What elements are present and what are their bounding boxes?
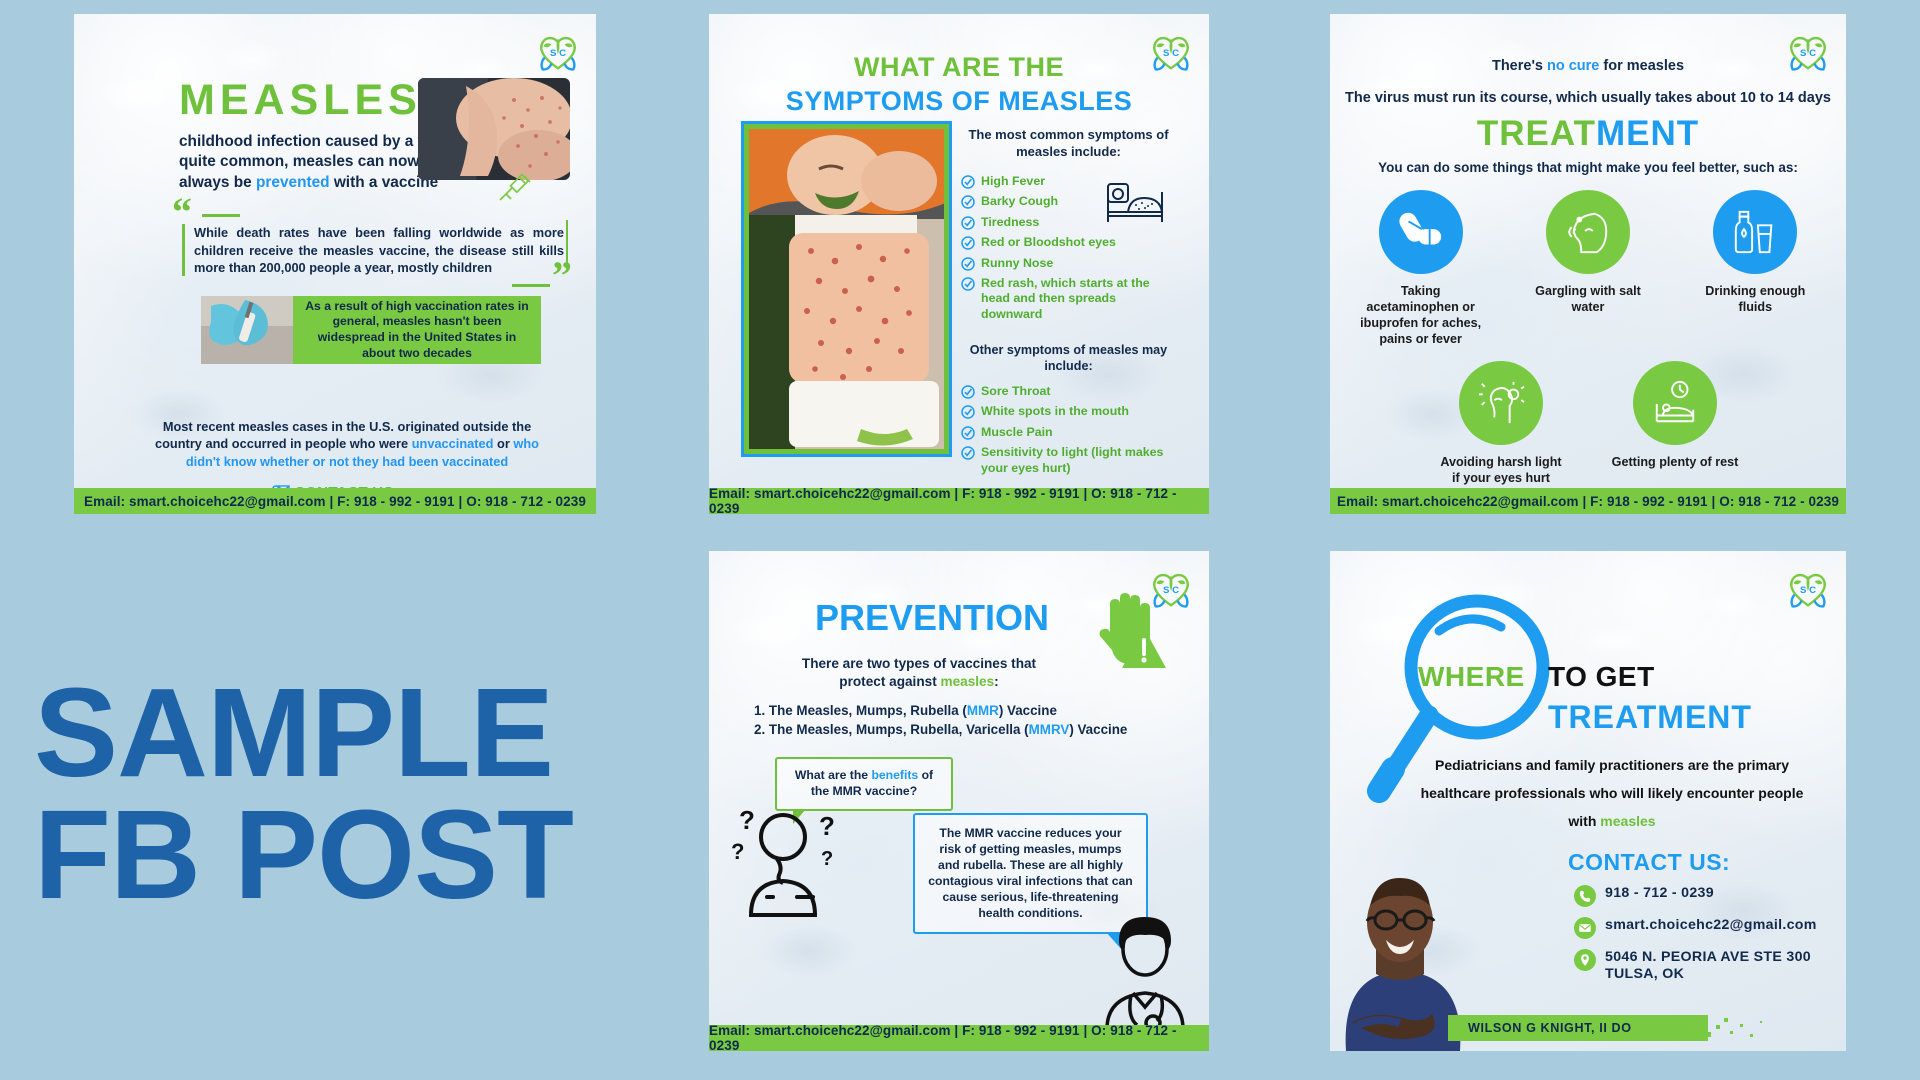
- location-pin-icon: [1574, 949, 1596, 971]
- symptom-label: Muscle Pain: [981, 425, 1053, 440]
- phone-number: 918 - 712 - 0239: [1605, 885, 1714, 902]
- card3-line1-highlight: no cure: [1547, 58, 1599, 74]
- check-circle-icon: [961, 195, 975, 209]
- quote-rule-bottom: [512, 284, 550, 287]
- card4-sub-highlight: measles: [941, 674, 995, 689]
- svg-text:S C: S C: [550, 48, 566, 59]
- card2-heading-line2: SYMPTOMS OF MEASLES: [709, 86, 1209, 117]
- vaccine-syringe-photo: [201, 296, 293, 364]
- gargling-head-icon: [1564, 208, 1612, 256]
- symptom-label: High Fever: [981, 174, 1045, 189]
- card1-bottom-mid: or: [493, 436, 513, 451]
- treatment-label: Gargling with salt water: [1527, 284, 1648, 316]
- card2-subheading: Other symptoms of measles may include:: [961, 342, 1176, 374]
- list-item: White spots in the mouth: [961, 404, 1176, 419]
- vaccine-list: 1. The Measles, Mumps, Rubella (MMR) Vac…: [754, 703, 1174, 741]
- card4-sub-part1: There are two types of vaccines that pro…: [802, 656, 1036, 689]
- head-with-light-icon: [1477, 379, 1525, 427]
- check-circle-icon: [961, 405, 975, 419]
- pixel-decoration: [1652, 1015, 1772, 1041]
- card-measles-intro[interactable]: S C MEASLESis a childhood infection caus…: [74, 14, 596, 514]
- treatment-icon-circle: [1633, 361, 1717, 445]
- card3-line1-part1: There's: [1492, 58, 1547, 74]
- card3-line2: The virus must run its course, which usu…: [1330, 90, 1846, 106]
- treatment-item: Avoiding harsh light if your eyes hurt: [1437, 361, 1565, 487]
- sample-fb-post-label: SAMPLE FB POST: [34, 672, 734, 916]
- measles-rash-photo: [418, 78, 570, 180]
- symptoms-common-list: High Fever Barky Cough Tiredness Red or …: [961, 174, 1176, 327]
- contact-footer-text: Email: smart.choicehc22@gmail.com | F: 9…: [84, 494, 586, 509]
- treatment-icon-circle: [1546, 190, 1630, 274]
- card-treatment[interactable]: S C There's no cure for measles The viru…: [1330, 14, 1846, 514]
- vaccine-pre: The Measles, Mumps, Rubella, Varicella (: [769, 722, 1029, 737]
- quote-close-mark: ”: [552, 264, 572, 288]
- list-item: Sore Throat: [961, 384, 1176, 399]
- check-circle-icon: [961, 175, 975, 189]
- check-circle-icon: [961, 446, 975, 460]
- card1-callout-text: As a result of high vaccination rates in…: [293, 299, 541, 361]
- email-address: smart.choicehc22@gmail.com: [1605, 917, 1817, 934]
- treatment-icon-circle: [1713, 190, 1797, 274]
- treatment-item: Getting plenty of rest: [1611, 361, 1739, 487]
- doctor-with-stethoscope-icon: [1091, 911, 1201, 1031]
- treatment-label: Avoiding harsh light if your eyes hurt: [1437, 455, 1565, 487]
- card-prevention[interactable]: S C PREVENTION There are two types of va…: [709, 551, 1209, 1051]
- treatment-label: Drinking enough fluids: [1695, 284, 1816, 316]
- card1-lead-highlight: prevented: [256, 174, 330, 191]
- card3-line1: There's no cure for measles: [1330, 58, 1846, 74]
- svg-text:?: ?: [731, 839, 744, 864]
- list-item: Muscle Pain: [961, 425, 1176, 440]
- symptom-label: Red rash, which starts at the head and t…: [981, 276, 1176, 322]
- treatment-item: Taking acetaminophen or ibuprofen for ac…: [1360, 190, 1481, 347]
- check-circle-icon: [961, 216, 975, 230]
- card1-quote-text: While death rates have been falling worl…: [194, 224, 564, 277]
- stop-hand-warning-icon: [1092, 588, 1168, 674]
- contact-footer-bar: Email: smart.choicehc22@gmail.com | F: 9…: [709, 488, 1209, 514]
- check-circle-icon: [961, 385, 975, 399]
- card3-title: TREATMENT: [1330, 114, 1846, 154]
- card-where-to-get-treatment[interactable]: S C WHERE TO GET TREATMENT Pediatricians…: [1330, 551, 1846, 1051]
- card2-heading-line1: WHAT ARE THE: [709, 52, 1209, 83]
- treatment-icon-circle: [1459, 361, 1543, 445]
- treatment-item: Drinking enough fluids: [1695, 190, 1816, 347]
- treatment-row-2: Avoiding harsh light if your eyes hurt: [1360, 361, 1816, 487]
- card5-paragraph: Pediatricians and family practitioners a…: [1414, 751, 1810, 835]
- card4-title: PREVENTION: [815, 597, 1049, 639]
- syringe-icon: [494, 172, 534, 206]
- vaccine-post: ) Vaccine: [1069, 722, 1127, 737]
- smart-choice-healthcare-logo: S C: [1784, 565, 1832, 613]
- sample-label-line1: SAMPLE: [34, 672, 734, 794]
- child-measles-photo: [744, 124, 949, 454]
- vaccine-post: ) Vaccine: [999, 703, 1057, 718]
- card1-green-callout: As a result of high vaccination rates in…: [201, 296, 541, 364]
- quote-bar-left: [182, 224, 185, 276]
- check-circle-icon: [961, 426, 975, 440]
- card2-intro: The most common symptoms of measles incl…: [961, 127, 1176, 161]
- quote-open-mark: “: [172, 200, 192, 224]
- card3-title-blue: MENT: [1596, 114, 1699, 153]
- thinking-person-icon: ? ? ? ?: [725, 801, 845, 921]
- poster-collage: SAMPLE FB POST S C MEASLESis a childhood…: [0, 0, 1920, 1080]
- card5-title-toget: TO GET: [1548, 661, 1655, 693]
- symptom-label: Runny Nose: [981, 256, 1053, 271]
- vaccine-num: 2.: [754, 722, 765, 737]
- water-bottle-glass-icon: [1731, 208, 1779, 256]
- treatment-label: Getting plenty of rest: [1611, 455, 1739, 471]
- card4-sub-part2: :: [994, 674, 999, 689]
- contact-footer-bar: Email: smart.choicehc22@gmail.com | F: 9…: [74, 488, 596, 514]
- sample-label-line2: FB POST: [34, 794, 734, 916]
- question-highlight: benefits: [871, 768, 918, 782]
- contact-footer-text: Email: smart.choicehc22@gmail.com | F: 9…: [709, 1023, 1209, 1051]
- card5-contact-rows: 918 - 712 - 0239 smart.choicehc22@gmail.…: [1574, 885, 1844, 993]
- svg-text:?: ?: [819, 811, 835, 841]
- svg-text:S C: S C: [1800, 585, 1816, 596]
- card3-line3: You can do some things that might make y…: [1330, 160, 1846, 175]
- symptoms-other-list: Sore Throat White spots in the mouth Mus…: [961, 384, 1176, 481]
- card5-contact-heading: CONTACT US:: [1568, 849, 1730, 876]
- symptom-label: Red or Bloodshot eyes: [981, 235, 1116, 250]
- card5-para-highlight: measles: [1600, 813, 1655, 829]
- treatment-item: Gargling with salt water: [1527, 190, 1648, 347]
- svg-text:?: ?: [821, 848, 833, 870]
- doctor-name: WILSON G KNIGHT, II DO: [1468, 1021, 1632, 1035]
- list-item: Sensitivity to light (light makes your e…: [961, 445, 1176, 476]
- vaccine-abbr: MMR: [967, 703, 999, 718]
- treatment-icon-circle: [1379, 190, 1463, 274]
- answer-text: The MMR vaccine reduces your risk of get…: [928, 826, 1133, 920]
- card5-title-where: WHERE: [1418, 661, 1525, 693]
- contact-footer-text: Email: smart.choicehc22@gmail.com | F: 9…: [1337, 494, 1839, 509]
- bed-clock-icon: [1651, 379, 1699, 427]
- symptom-label: Sore Throat: [981, 384, 1051, 399]
- symptom-label: Sensitivity to light (light makes your e…: [981, 445, 1176, 476]
- treatment-grid: Taking acetaminophen or ibuprofen for ac…: [1360, 190, 1816, 487]
- list-item: Red or Bloodshot eyes: [961, 235, 1176, 250]
- vaccine-num: 1.: [754, 703, 765, 718]
- list-item: 2. The Measles, Mumps, Rubella, Varicell…: [754, 722, 1174, 737]
- contact-row-email[interactable]: smart.choicehc22@gmail.com: [1574, 917, 1844, 939]
- phone-icon: [1574, 885, 1596, 907]
- list-item: Barky Cough: [961, 194, 1176, 209]
- list-item: Tiredness: [961, 215, 1176, 230]
- smart-choice-healthcare-logo: S C: [534, 28, 582, 76]
- question-part1: What are the: [795, 768, 872, 782]
- email-icon: [1574, 917, 1596, 939]
- symptom-label: White spots in the mouth: [981, 404, 1129, 419]
- pills-icon: [1397, 208, 1445, 256]
- symptom-label: Barky Cough: [981, 194, 1058, 209]
- contact-row-phone[interactable]: 918 - 712 - 0239: [1574, 885, 1844, 907]
- contact-footer-bar: Email: smart.choicehc22@gmail.com | F: 9…: [709, 1025, 1209, 1051]
- vaccine-abbr: MMRV: [1029, 722, 1070, 737]
- list-item: Runny Nose: [961, 256, 1176, 271]
- card3-line1-part2: for measles: [1599, 58, 1684, 74]
- treatment-label: Taking acetaminophen or ibuprofen for ac…: [1360, 284, 1481, 347]
- list-item: High Fever: [961, 174, 1176, 189]
- card1-bottom-text: Most recent measles cases in the U.S. or…: [144, 418, 550, 470]
- quote-rule-top: [202, 214, 240, 217]
- card3-title-green: TREAT: [1477, 114, 1596, 153]
- check-circle-icon: [961, 277, 975, 291]
- office-address: 5046 N. PEORIA AVE STE 300 TULSA, OK: [1605, 949, 1844, 983]
- list-item: Red rash, which starts at the head and t…: [961, 276, 1176, 322]
- treatment-row-1: Taking acetaminophen or ibuprofen for ac…: [1360, 190, 1816, 347]
- card1-title: MEASLESis a: [179, 76, 454, 125]
- check-circle-icon: [961, 257, 975, 271]
- svg-text:?: ?: [739, 805, 755, 835]
- check-circle-icon: [961, 236, 975, 250]
- list-item: 1. The Measles, Mumps, Rubella (MMR) Vac…: [754, 703, 1174, 718]
- card5-title-treatment: TREATMENT: [1548, 699, 1752, 736]
- contact-footer-bar: Email: smart.choicehc22@gmail.com | F: 9…: [1330, 488, 1846, 514]
- contact-row-address[interactable]: 5046 N. PEORIA AVE STE 300 TULSA, OK: [1574, 949, 1844, 983]
- card-symptoms[interactable]: S C WHAT ARE THE SYMPTOMS OF MEASLES: [709, 14, 1209, 514]
- card4-subtitle: There are two types of vaccines that pro…: [779, 655, 1059, 691]
- card1-bottom-hl1: unvaccinated: [412, 436, 494, 451]
- symptom-label: Tiredness: [981, 215, 1039, 230]
- card1-title-main: MEASLES: [179, 76, 422, 124]
- vaccine-pre: The Measles, Mumps, Rubella (: [769, 703, 967, 718]
- contact-footer-text: Email: smart.choicehc22@gmail.com | F: 9…: [709, 486, 1209, 514]
